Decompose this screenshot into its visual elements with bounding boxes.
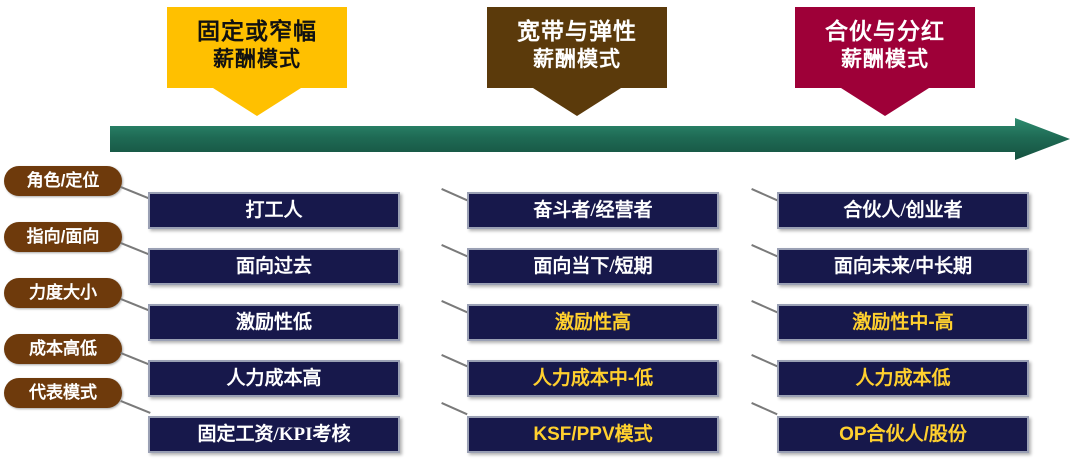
- row-label-orientation: 指向/面向: [4, 222, 122, 252]
- cell-role-col2: 奋斗者/经营者: [467, 192, 719, 229]
- cell-role-col3: 合伙人/创业者: [777, 192, 1029, 229]
- connector-tick: [751, 402, 777, 415]
- banner-fixed-narrow: 固定或窄幅 薪酬模式: [167, 7, 347, 88]
- banner-title-line1: 宽带与弹性: [487, 16, 667, 46]
- cell-cost-col2: 人力成本中-低: [467, 360, 719, 397]
- banner-arrow-tip: [533, 88, 621, 116]
- cell-cost-col3: 人力成本低: [777, 360, 1029, 397]
- connector-tick: [751, 244, 777, 257]
- banner-title-line1: 固定或窄幅: [167, 16, 347, 46]
- connector-tick: [441, 402, 467, 415]
- row-label-role: 角色/定位: [4, 166, 122, 196]
- connector-tick: [120, 186, 150, 200]
- connector-tick: [441, 300, 467, 313]
- row-label-cost: 成本高低: [4, 334, 122, 364]
- banner-title-line1: 合伙与分红: [795, 16, 975, 46]
- banner-title-line2: 薪酬模式: [167, 46, 347, 74]
- cell-intensity-col3: 激励性中-高: [777, 304, 1029, 341]
- cell-intensity-col1: 激励性低: [148, 304, 400, 341]
- banner-partnership-dividend: 合伙与分红 薪酬模式: [795, 7, 975, 88]
- cell-orientation-col3: 面向未来/中长期: [777, 248, 1029, 285]
- progress-arrow-icon: [110, 118, 1070, 160]
- cell-cost-col1: 人力成本高: [148, 360, 400, 397]
- connector-tick: [751, 188, 777, 201]
- connector-tick: [441, 354, 467, 367]
- banner-arrow-tip: [841, 88, 929, 116]
- connector-tick: [441, 244, 467, 257]
- connector-tick: [751, 354, 777, 367]
- connector-tick: [120, 242, 150, 256]
- cell-orientation-col2: 面向当下/短期: [467, 248, 719, 285]
- diagram-canvas: 固定或窄幅 薪酬模式 宽带与弹性 薪酬模式 合伙与分红 薪酬模式 角色/定位: [0, 0, 1080, 472]
- banner-arrow-tip: [213, 88, 301, 116]
- cell-role-col1: 打工人: [148, 192, 400, 229]
- banner-broadband-flexible: 宽带与弹性 薪酬模式: [487, 7, 667, 88]
- banner-title-line2: 薪酬模式: [487, 46, 667, 74]
- row-label-typical-mode: 代表模式: [4, 378, 122, 408]
- connector-tick: [751, 300, 777, 313]
- cell-orientation-col1: 面向过去: [148, 248, 400, 285]
- row-label-intensity: 力度大小: [4, 278, 122, 308]
- connector-tick: [441, 188, 467, 201]
- banner-title-line2: 薪酬模式: [795, 46, 975, 74]
- connector-tick: [120, 352, 150, 366]
- cell-typical-mode-col2: KSF/PPV模式: [467, 416, 719, 453]
- cell-intensity-col2: 激励性高: [467, 304, 719, 341]
- connector-tick: [120, 298, 150, 312]
- cell-typical-mode-col1: 固定工资/KPI考核: [148, 416, 400, 453]
- connector-tick: [120, 400, 150, 414]
- cell-typical-mode-col3: OP合伙人/股份: [777, 416, 1029, 453]
